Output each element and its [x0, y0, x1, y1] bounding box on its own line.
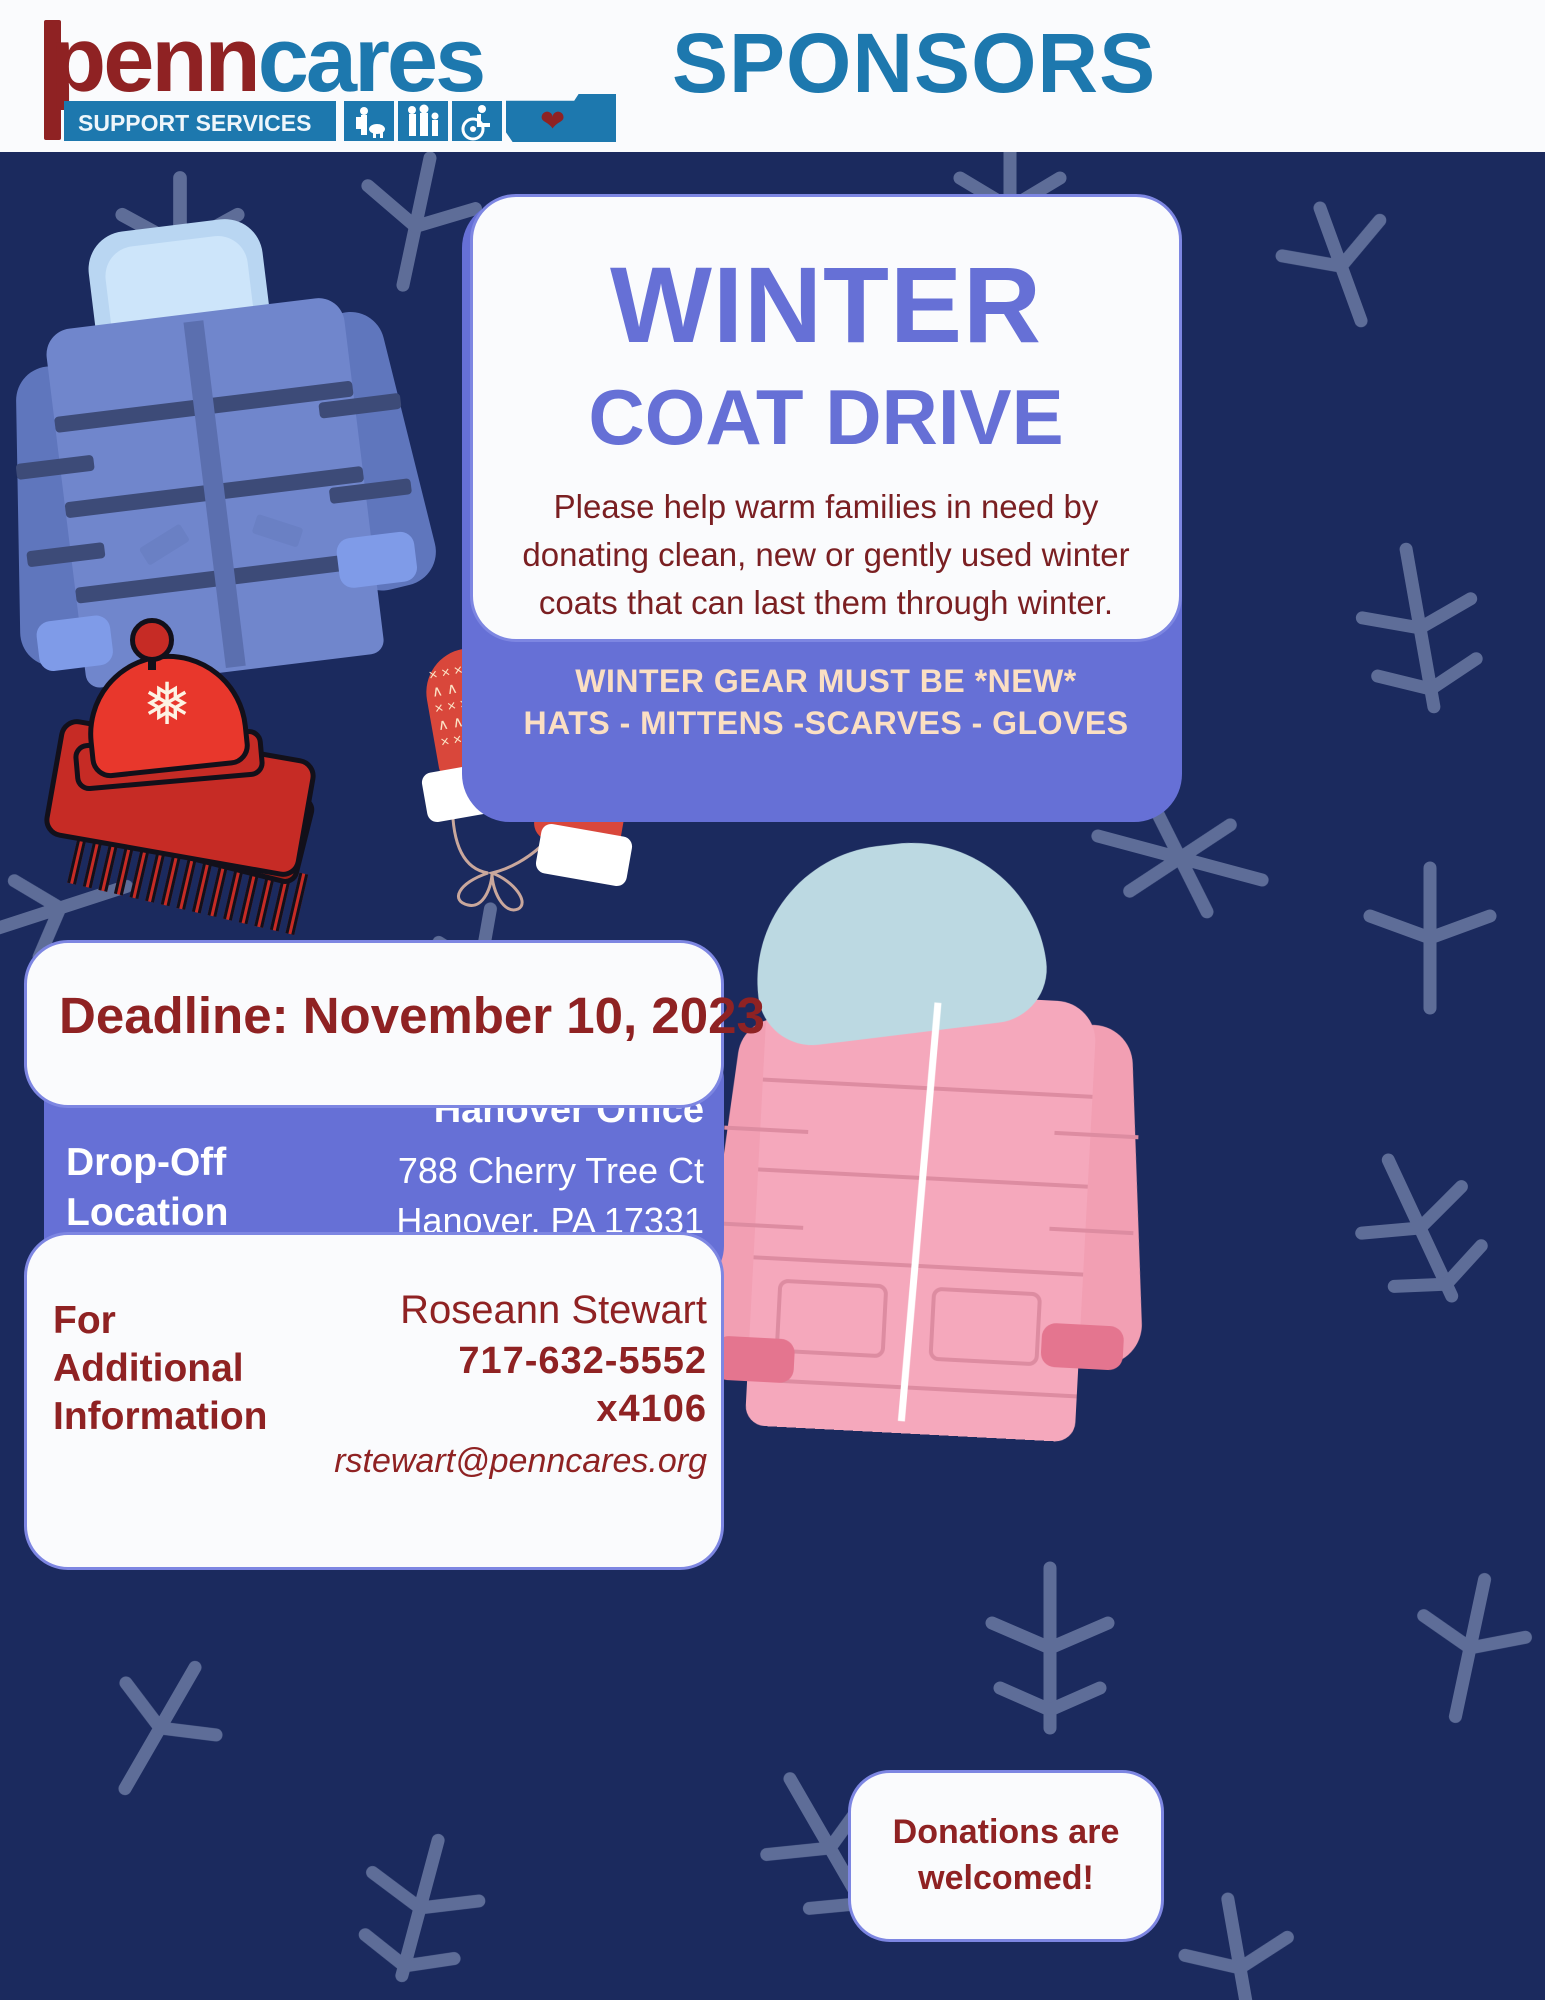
info-stack: Drop-Off Location Hanover Office 788 Che… [24, 940, 724, 1570]
family-glyph [398, 101, 448, 141]
additional-info-value: Roseann Stewart 717-632-5552 x4106 rstew… [277, 1283, 707, 1489]
additional-info-card: For Additional Information Roseann Stewa… [24, 1232, 724, 1570]
winter-gear-note-line2: HATS - MITTENS -SCARVES - GLOVES [470, 702, 1182, 744]
pink-coat-left-cuff [713, 1335, 795, 1383]
dropoff-label: Drop-Off Location [66, 1138, 229, 1238]
pink-coat-right-cuff [1040, 1323, 1124, 1371]
winter-gear-note-line1: WINTER GEAR MUST BE *NEW* [470, 660, 1182, 702]
donations-line2: welcomed! [851, 1855, 1161, 1901]
hero-title-card: WINTER COAT DRIVE Please help warm famil… [470, 194, 1182, 642]
contact-phone[interactable]: 717-632-5552 [277, 1337, 707, 1385]
page-header: penncares SUPPORT SERVICES [0, 0, 1545, 152]
logo-tagline-bar: SUPPORT SERVICES [64, 101, 336, 141]
wheelchair-icon [452, 101, 502, 141]
poster-body: ❅ ××××× ∧∧∧ ×××× ∧∧∧∧ ××××× ××××× ∧∧∧ ××… [0, 148, 1545, 2000]
hero-title-line1: WINTER [473, 251, 1179, 359]
contact-name: Roseann Stewart [277, 1283, 707, 1337]
dropoff-label-line2: Location [66, 1188, 229, 1238]
additional-info-label: For Additional Information [53, 1297, 267, 1441]
additional-info-label-line2: Additional [53, 1345, 267, 1393]
donations-line1: Donations are [851, 1809, 1161, 1855]
pink-coat-hood-fur [742, 827, 1053, 1051]
family-icon [398, 101, 448, 141]
hat-snowflake-icon: ❅ [138, 676, 196, 734]
donations-text: Donations are welcomed! [851, 1773, 1161, 1901]
wheelchair-glyph [452, 101, 502, 141]
winter-gear-note: WINTER GEAR MUST BE *NEW* HATS - MITTENS… [470, 660, 1182, 744]
donations-welcome-card: Donations are welcomed! [848, 1770, 1164, 1942]
additional-info-label-line1: For [53, 1297, 267, 1345]
additional-info-label-line3: Information [53, 1393, 267, 1441]
contact-extension: x4106 [277, 1385, 707, 1433]
logo-wordmark: penncares [50, 12, 483, 108]
deadline-card: Deadline: November 10, 2023 [24, 940, 724, 1108]
logo-tagline: SUPPORT SERVICES [78, 110, 311, 137]
hero-body-text: Please help warm families in need by don… [515, 483, 1137, 627]
hat-pompom [130, 618, 174, 662]
logo-word-cares: cares [258, 9, 483, 111]
sponsors-heading: SPONSORS [672, 8, 1156, 118]
dropoff-value: Hanover Office 788 Cherry Tree Ct Hanove… [284, 1084, 704, 1246]
dropoff-label-line1: Drop-Off [66, 1138, 229, 1188]
dropoff-address-line1: 788 Cherry Tree Ct [284, 1146, 704, 1196]
pink-winter-coat-illustration [703, 836, 1217, 1520]
penncares-logo: penncares SUPPORT SERVICES [22, 12, 642, 144]
heart-glyph: ❤ [540, 110, 566, 134]
logo-word-penn: penn [50, 9, 258, 111]
blue-coat-right-cuff [335, 530, 419, 589]
red-hat-and-scarf-illustration: ❅ [40, 618, 360, 948]
pennsylvania-heart-icon: ❤ [506, 94, 616, 142]
hero-title-line2: COAT DRIVE [473, 375, 1179, 459]
deadline-text: Deadline: November 10, 2023 [59, 987, 765, 1045]
contact-email[interactable]: rstewart@penncares.org [277, 1433, 707, 1489]
person-with-dog-glyph [344, 101, 394, 141]
person-with-dog-icon [344, 101, 394, 141]
pink-coat-pocket [928, 1287, 1042, 1367]
